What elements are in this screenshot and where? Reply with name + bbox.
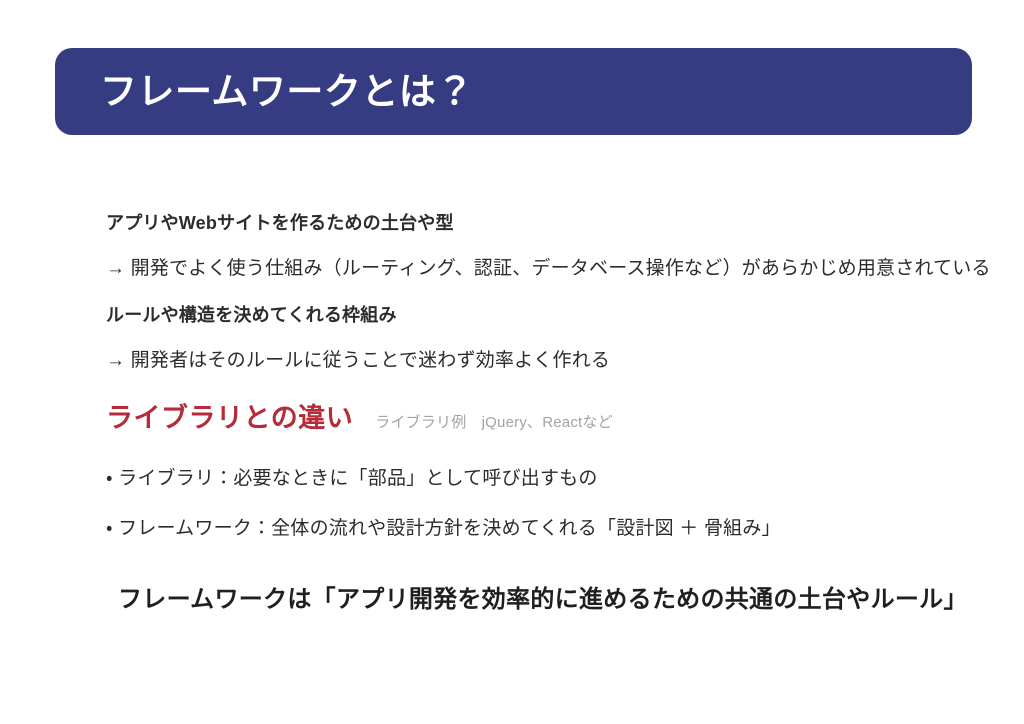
body-detail-1: → 開発でよく使う仕組み（ルーティング、認証、データベース操作など）があらかじめ… xyxy=(106,259,966,278)
section-note-library-examples: ライブラリ例 jQuery、Reactなど xyxy=(375,415,613,430)
spacer xyxy=(106,232,966,259)
body-heading-1: アプリやWebサイトを作るための土台や型 xyxy=(106,214,966,232)
spacer xyxy=(106,278,966,306)
body-detail-2: → 開発者はそのルールに従うことで迷わず効率よく作れる xyxy=(106,351,966,370)
section-heading-row: ライブラリとの違い ライブラリ例 jQuery、Reactなど xyxy=(106,405,966,432)
list-item: ・ フレームワーク：全体の流れや設計方針を決めてくれる「設計図 ＋ 骨組み」 xyxy=(106,519,966,538)
conclusion-statement: フレームワークは「アプリ開発を効率的に進めるための共通の土台やルール」 xyxy=(118,588,968,612)
spacer xyxy=(106,432,966,469)
spacer xyxy=(106,370,966,405)
body-content: アプリやWebサイトを作るための土台や型 → 開発でよく使う仕組み（ルーティング… xyxy=(106,214,966,538)
list-item: ・ ライブラリ：必要なときに「部品」として呼び出すもの xyxy=(106,469,966,488)
spacer xyxy=(106,488,966,519)
section-heading-library-difference: ライブラリとの違い xyxy=(106,405,353,432)
body-heading-2: ルールや構造を決めてくれる枠組み xyxy=(106,306,966,324)
spacer xyxy=(106,324,966,351)
title-banner: フレームワークとは？ xyxy=(55,48,972,135)
page-title: フレームワークとは？ xyxy=(100,73,474,110)
slide-canvas: フレームワークとは？ アプリやWebサイトを作るための土台や型 → 開発でよく使… xyxy=(0,0,1024,724)
